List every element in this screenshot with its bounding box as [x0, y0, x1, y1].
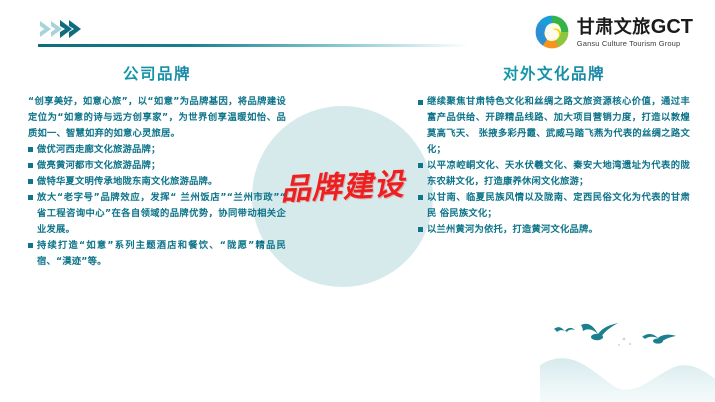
brand-name-cn: 甘肃文旅GCT: [577, 17, 693, 37]
brand-name-cn-text: 甘肃文旅: [577, 17, 651, 38]
double-chevron-right-icon: [38, 20, 90, 38]
right-column-heading: 对外文化品牌: [418, 62, 690, 84]
list-item: 以兰州黄河为依托，打造黄河文化品牌。: [418, 222, 690, 238]
list-item: 继续聚焦甘肃特色文化和丝绸之路文旅资源核心价值，通过丰富产品供给、开辟精品线路、…: [418, 94, 690, 158]
left-column-heading: 公司品牌: [28, 62, 286, 84]
brand-abbr: GCT: [651, 16, 693, 38]
brand-wordmark: 甘肃文旅GCT Gansu Culture Tourism Group: [577, 17, 693, 48]
slide-root: 甘肃文旅GCT Gansu Culture Tourism Group 品牌建设…: [0, 0, 715, 402]
right-column: 对外文化品牌 继续聚焦甘肃特色文化和丝绸之路文旅资源核心价值，通过丰富产品供给、…: [418, 62, 690, 238]
list-item: 以甘南、临夏民族风情以及陇南、定西民俗文化为代表的甘肃民 俗民族文化；: [418, 190, 690, 222]
list-item: 做优河西走廊文化旅游品牌；: [28, 142, 286, 158]
gct-circular-emblem-icon: [534, 14, 570, 50]
flying-birds-icon: [554, 323, 676, 344]
brand-logo: 甘肃文旅GCT Gansu Culture Tourism Group: [534, 14, 693, 50]
left-column-paragraph: “创享美好，如意心旅”，以“如意”为品牌基因，将品牌建设定位为“如意的诗与远方创…: [28, 94, 286, 142]
list-item: 做特华夏文明传承地陇东南文化旅游品牌。: [28, 174, 286, 190]
header-divider-rule: [38, 44, 468, 47]
bottom-right-decoration: [540, 307, 715, 402]
list-item: 做亮黄河都市文化旅游品牌；: [28, 158, 286, 174]
list-item: 持续打造“如意”系列主题酒店和餐饮、“陇愿”精品民宿、“漠迹”等。: [28, 238, 286, 270]
list-item: 放大“老字号”品牌效应，发挥“ 兰州饭店”“兰州市政”“ 省工程咨询中心”在各自…: [28, 190, 286, 238]
left-column: 公司品牌 “创享美好，如意心旅”，以“如意”为品牌基因，将品牌建设定位为“如意的…: [28, 62, 286, 270]
wave-shape: [540, 358, 715, 402]
list-item: 以平凉崆峒文化、天水伏羲文化、秦安大地湾遗址为代表的陇东农耕文化，打造康养休闲文…: [418, 158, 690, 190]
brand-name-en: Gansu Culture Tourism Group: [577, 40, 693, 48]
